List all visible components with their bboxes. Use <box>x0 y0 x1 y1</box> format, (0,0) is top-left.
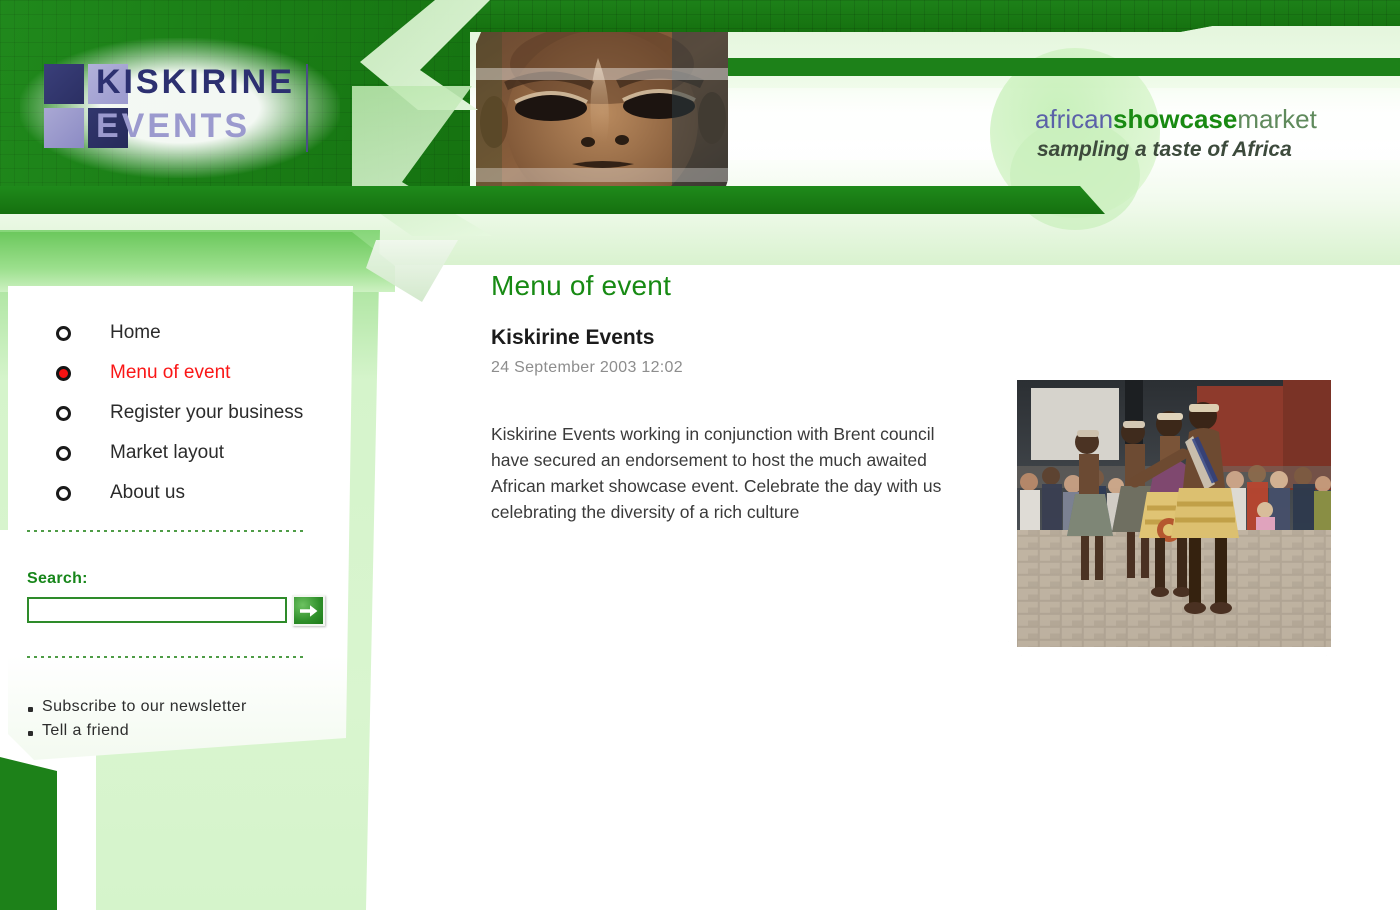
nav-item-menu-of-event[interactable]: Menu of event <box>56 353 356 393</box>
search-label: Search: <box>27 570 88 588</box>
search-submit-button[interactable] <box>292 595 325 626</box>
nav-item-label: Menu of event <box>110 362 230 384</box>
article-photo <box>1017 380 1331 647</box>
footer-green-block <box>0 757 57 910</box>
logo-text-kiskirine: KISKIRINE <box>96 60 295 104</box>
nav-item-label: Market layout <box>110 442 224 464</box>
logo-square-lilac-bottom <box>44 108 84 148</box>
nav-item-market-layout[interactable]: Market layout <box>56 433 356 473</box>
main-navigation: Home Menu of event Register your busines… <box>56 313 356 513</box>
banner-tagline: sampling a taste of Africa <box>1037 138 1317 162</box>
showcase-banner: africanshowcasemarket sampling a taste o… <box>1035 104 1317 162</box>
banner-word-showcase: showcase <box>1113 104 1237 134</box>
page-root: KISKIRINE EVENTS africanshowcasemarket s… <box>0 0 1400 910</box>
decorative-wedge-icon <box>366 240 458 302</box>
bullet-small-icon <box>28 707 33 712</box>
nav-item-label: Home <box>110 322 161 344</box>
banner-title-line: africanshowcasemarket <box>1035 104 1317 134</box>
banner-word-african: african <box>1035 104 1113 134</box>
logo-divider <box>306 64 308 152</box>
nav-item-home[interactable]: Home <box>56 313 356 353</box>
nav-item-register-your-business[interactable]: Register your business <box>56 393 356 433</box>
nav-item-label: About us <box>110 482 185 504</box>
banner-word-market: market <box>1237 104 1316 134</box>
site-logo[interactable]: KISKIRINE EVENTS <box>44 58 306 156</box>
link-label: Subscribe to our newsletter <box>42 698 247 716</box>
article-photo-frame <box>1008 371 1340 656</box>
site-header: KISKIRINE EVENTS africanshowcasemarket s… <box>0 0 1400 265</box>
link-tell-a-friend[interactable]: Tell a friend <box>28 722 328 740</box>
bullet-active-icon <box>56 366 71 381</box>
article-title: Kiskirine Events <box>491 326 961 350</box>
bullet-icon <box>56 446 71 461</box>
logo-square-navy-top <box>44 64 84 104</box>
page-title: Menu of event <box>491 270 961 302</box>
article-date: 24 September 2003 12:02 <box>491 359 961 377</box>
header-middle-green-bar <box>0 186 1105 214</box>
search-input[interactable] <box>27 597 287 623</box>
arrow-right-icon <box>300 604 318 618</box>
divider-above-search <box>27 530 303 532</box>
sidebar-extra-links: Subscribe to our newsletter Tell a frien… <box>28 698 328 746</box>
header-mask-overlay-bottom <box>476 168 728 182</box>
bullet-icon <box>56 486 71 501</box>
header-right-green-bar <box>620 58 1400 76</box>
sidebar-background-top-band <box>0 232 395 292</box>
article-body: Kiskirine Events working in conjunction … <box>491 421 943 525</box>
link-label: Tell a friend <box>42 722 129 740</box>
divider-below-search <box>27 656 303 658</box>
link-subscribe-newsletter[interactable]: Subscribe to our newsletter <box>28 698 328 716</box>
nav-item-about-us[interactable]: About us <box>56 473 356 513</box>
nav-item-label: Register your business <box>110 402 303 424</box>
bullet-icon <box>56 326 71 341</box>
header-mask-overlay-top <box>476 68 728 80</box>
bullet-small-icon <box>28 731 33 736</box>
main-content: Menu of event Kiskirine Events 24 Septem… <box>491 270 961 525</box>
logo-text-events: EVENTS <box>96 104 250 148</box>
bullet-icon <box>56 406 71 421</box>
